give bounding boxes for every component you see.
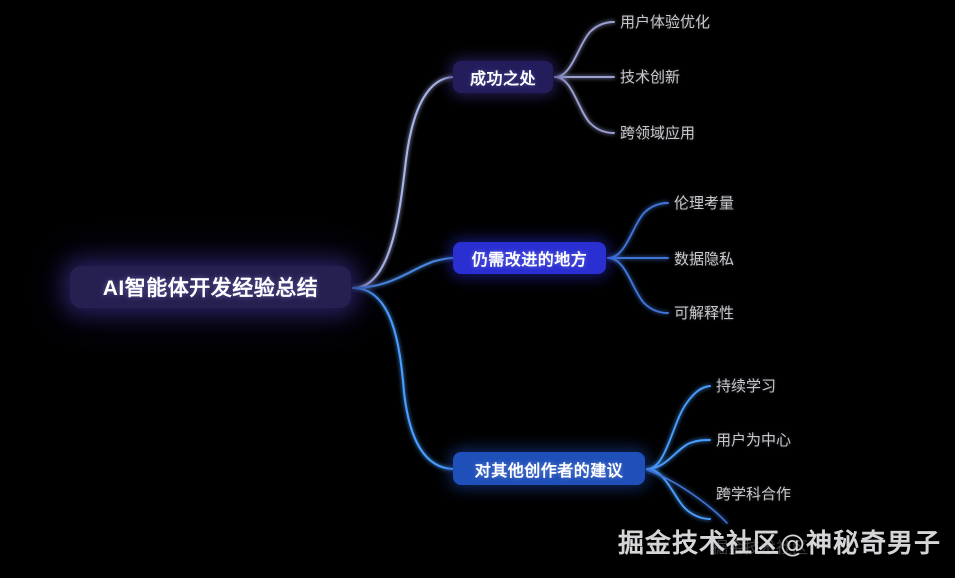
watermark-at-symbol: @ — [780, 529, 806, 558]
edge-b3-leaf-3 — [647, 469, 710, 519]
edge-b1-leaf-1 — [555, 22, 614, 77]
leaf-improvements-3[interactable]: 可解释性 — [674, 306, 734, 321]
mindmap-canvas: AI智能体开发经验总结 成功之处 仍需改进的地方 对其他创作者的建议 用户体验优… — [0, 0, 955, 578]
node-branch-success[interactable]: 成功之处 — [453, 61, 553, 93]
leaf-advice-3[interactable]: 跨学科合作 — [716, 487, 791, 502]
edge-stray-bottom — [647, 470, 727, 523]
edge-root-to-branch-3 — [353, 288, 453, 469]
node-branch-improvements-label: 仍需改进的地方 — [472, 246, 588, 270]
watermark-author: 神秘奇男子 — [806, 528, 941, 558]
leaf-success-2[interactable]: 技术创新 — [620, 70, 680, 85]
watermark-site: 掘金技术社区 — [618, 528, 780, 558]
edge-b1-leaf-3 — [555, 77, 614, 133]
edge-root-to-branch-2 — [353, 258, 453, 288]
leaf-advice-2[interactable]: 用户为中心 — [716, 433, 791, 448]
edge-b2-leaf-1 — [608, 203, 668, 258]
node-root-label: AI智能体开发经验总结 — [103, 272, 319, 302]
leaf-improvements-1[interactable]: 伦理考量 — [674, 196, 734, 211]
edge-root-to-branch-1 — [353, 77, 453, 288]
leaf-advice-1[interactable]: 持续学习 — [716, 379, 776, 394]
edge-b3-leaf-1 — [647, 386, 710, 469]
edge-b3-leaf-2 — [647, 440, 710, 469]
node-branch-advice[interactable]: 对其他创作者的建议 — [453, 452, 645, 485]
leaf-success-1[interactable]: 用户体验优化 — [620, 15, 710, 30]
leaf-success-3[interactable]: 跨领域应用 — [620, 126, 695, 141]
watermark: 掘金技术社区@神秘奇男子 — [618, 523, 941, 560]
edge-b2-leaf-3 — [608, 258, 668, 313]
node-branch-advice-label: 对其他创作者的建议 — [475, 457, 624, 481]
leaf-improvements-2[interactable]: 数据隐私 — [674, 252, 734, 267]
node-branch-success-label: 成功之处 — [470, 65, 536, 89]
node-branch-improvements[interactable]: 仍需改进的地方 — [453, 242, 606, 274]
node-root[interactable]: AI智能体开发经验总结 — [70, 266, 351, 308]
